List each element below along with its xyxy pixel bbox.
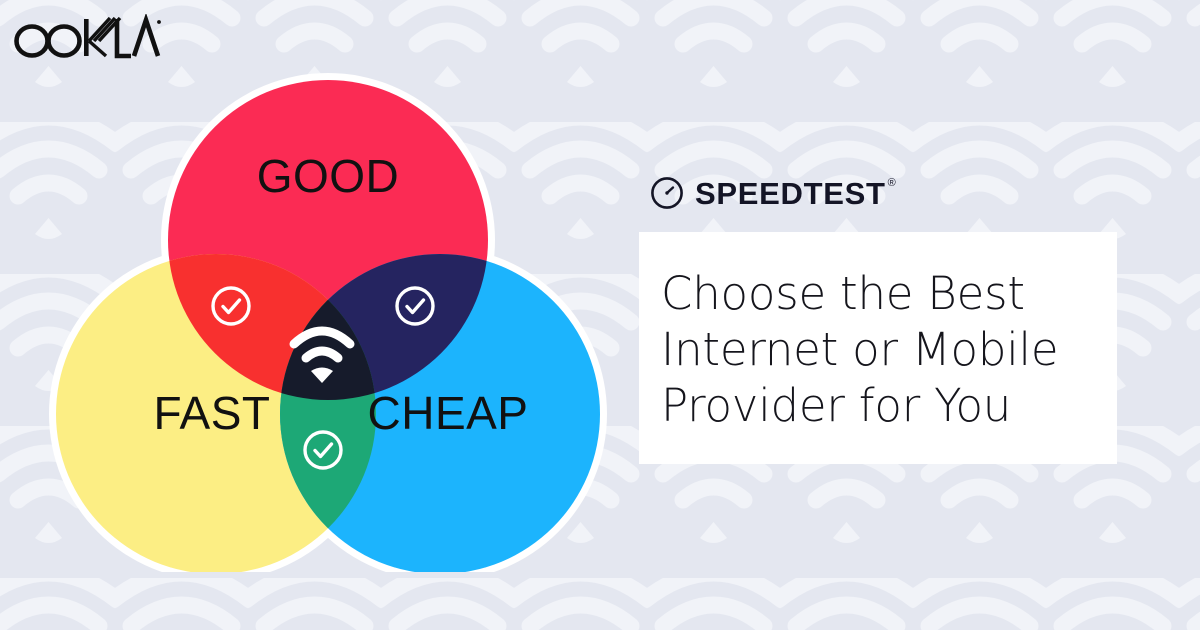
headline-card: Choose the Best Internet or Mobile Provi…: [639, 232, 1117, 464]
venn-diagram: GOOD FAST CHEAP: [48, 62, 608, 572]
poster-canvas: GOOD FAST CHEAP: [0, 0, 1200, 630]
content-column: SPEEDTEST ® Choose the Best Internet or …: [639, 170, 1139, 464]
venn-label-good: GOOD: [257, 150, 400, 202]
venn-label-fast: FAST: [153, 387, 270, 439]
headline-line-1: Choose the Best: [661, 266, 1117, 322]
registered-mark-icon: [157, 20, 161, 24]
speedtest-wordmark: SPEEDTEST: [695, 178, 886, 209]
speedtest-trademark: ®: [888, 178, 896, 189]
page-title: Choose the Best Internet or Mobile Provi…: [661, 266, 1117, 434]
venn-label-cheap: CHEAP: [368, 387, 529, 439]
headline-line-2: Internet or Mobile: [661, 322, 1117, 378]
speedometer-icon: [650, 176, 684, 210]
headline-line-3: Provider for You: [661, 378, 1117, 434]
ookla-logo: [13, 14, 163, 62]
speedtest-logo: SPEEDTEST ®: [650, 170, 1139, 216]
